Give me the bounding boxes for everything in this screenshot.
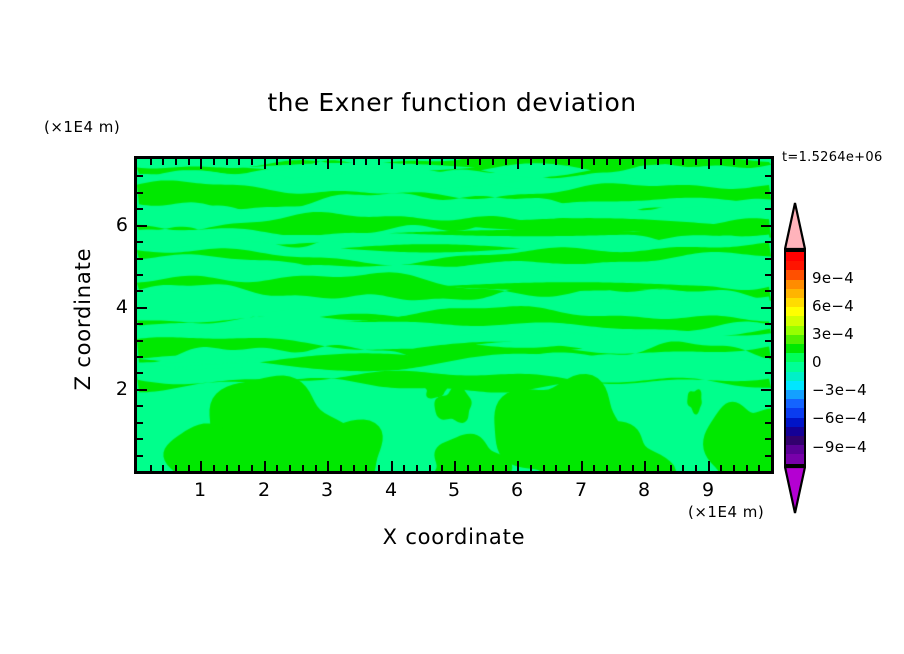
colorbar-band — [786, 418, 804, 427]
x-minor-tick-top — [606, 159, 608, 165]
x-minor-tick — [175, 465, 177, 471]
x-minor-tick — [416, 465, 418, 471]
colorbar-band — [786, 362, 804, 371]
colorbar-tick-label: 3e−4 — [812, 325, 854, 343]
y-minor-tick — [137, 438, 143, 440]
x-minor-tick — [403, 465, 405, 471]
colorbar-band — [786, 344, 804, 353]
y-major-tick-right — [761, 225, 771, 227]
y-minor-tick-right — [765, 422, 771, 424]
y-minor-tick — [137, 192, 143, 194]
colorbar-band — [786, 261, 804, 270]
x-minor-tick — [353, 465, 355, 471]
x-major-tick-top — [517, 159, 519, 169]
y-minor-tick-right — [765, 438, 771, 440]
x-minor-tick — [758, 465, 760, 471]
x-tick-label: 4 — [385, 479, 397, 501]
y-tick-label: 2 — [108, 378, 128, 400]
y-minor-tick — [137, 175, 143, 177]
colorbar-band — [786, 381, 804, 390]
colorbar-band — [786, 335, 804, 344]
y-major-tick — [137, 389, 147, 391]
x-minor-tick — [682, 465, 684, 471]
y-minor-tick-right — [765, 356, 771, 358]
x-minor-tick — [632, 465, 634, 471]
x-minor-tick-top — [505, 159, 507, 165]
x-minor-tick-top — [593, 159, 595, 165]
y-axis-title: Z coordinate — [71, 219, 95, 419]
x-minor-tick-top — [479, 159, 481, 165]
x-minor-tick — [720, 465, 722, 471]
x-minor-tick — [733, 465, 735, 471]
x-minor-tick — [276, 465, 278, 471]
x-minor-tick — [441, 465, 443, 471]
x-major-tick-top — [200, 159, 202, 169]
page-title: the Exner function deviation — [0, 88, 904, 117]
x-minor-tick-top — [467, 159, 469, 165]
colorbar-band — [786, 353, 804, 362]
x-minor-tick-top — [289, 159, 291, 165]
x-minor-tick — [530, 465, 532, 471]
y-minor-tick-right — [765, 323, 771, 325]
colorbar-band — [786, 454, 804, 463]
x-major-tick-top — [454, 159, 456, 169]
y-tick-label: 4 — [108, 296, 128, 318]
colorbar-tick-label: 6e−4 — [812, 297, 854, 315]
x-minor-tick — [555, 465, 557, 471]
x-minor-tick — [365, 465, 367, 471]
x-minor-tick-top — [213, 159, 215, 165]
colorbar-bands — [784, 250, 806, 466]
colorbar-band — [786, 270, 804, 279]
figure-root: the Exner function deviation (×1E4 m) t=… — [0, 0, 904, 654]
colorbar-tick-label: 9e−4 — [812, 269, 854, 287]
colorbar[interactable]: 9e−46e−43e−40−3e−4−6e−4−9e−4 — [784, 202, 806, 514]
x-minor-tick — [429, 465, 431, 471]
y-minor-tick — [137, 208, 143, 210]
x-minor-tick — [238, 465, 240, 471]
x-major-tick-top — [327, 159, 329, 169]
x-minor-tick-top — [315, 159, 317, 165]
x-minor-tick-top — [720, 159, 722, 165]
x-major-tick — [264, 461, 266, 471]
x-tick-label: 7 — [575, 479, 587, 501]
x-minor-tick — [593, 465, 595, 471]
x-minor-tick-top — [226, 159, 228, 165]
colorbar-tick-label: 0 — [812, 353, 822, 371]
x-minor-tick — [188, 465, 190, 471]
y-minor-tick-right — [765, 192, 771, 194]
x-minor-tick — [746, 465, 748, 471]
y-minor-tick-right — [765, 175, 771, 177]
x-minor-tick-top — [403, 159, 405, 165]
x-minor-tick — [467, 465, 469, 471]
x-minor-tick-top — [162, 159, 164, 165]
x-major-tick — [581, 461, 583, 471]
x-minor-tick-top — [429, 159, 431, 165]
x-minor-tick — [340, 465, 342, 471]
x-minor-tick — [302, 465, 304, 471]
x-minor-tick — [492, 465, 494, 471]
x-minor-tick-top — [188, 159, 190, 165]
x-minor-tick — [543, 465, 545, 471]
y-minor-tick — [137, 405, 143, 407]
y-minor-tick-right — [765, 274, 771, 276]
x-minor-tick — [606, 465, 608, 471]
y-minor-tick — [137, 323, 143, 325]
x-minor-tick-top — [353, 159, 355, 165]
colorbar-band — [786, 427, 804, 436]
x-minor-tick — [505, 465, 507, 471]
colorbar-band — [786, 445, 804, 454]
x-minor-tick-top — [175, 159, 177, 165]
y-minor-tick — [137, 455, 143, 457]
x-minor-tick-top — [695, 159, 697, 165]
y-minor-tick — [137, 258, 143, 260]
x-major-tick-top — [264, 159, 266, 169]
x-tick-label: 1 — [194, 479, 206, 501]
x-major-tick-top — [708, 159, 710, 169]
x-minor-tick-top — [619, 159, 621, 165]
x-major-tick — [200, 461, 202, 471]
x-minor-tick-top — [276, 159, 278, 165]
x-minor-tick-top — [492, 159, 494, 165]
x-tick-label: 9 — [702, 479, 714, 501]
y-major-tick-right — [761, 389, 771, 391]
x-tick-label: 2 — [258, 479, 270, 501]
x-minor-tick — [150, 465, 152, 471]
x-major-tick-top — [391, 159, 393, 169]
x-minor-tick — [289, 465, 291, 471]
colorbar-tick-label: −3e−4 — [812, 381, 867, 399]
y-minor-tick — [137, 340, 143, 342]
x-major-tick — [517, 461, 519, 471]
y-minor-tick — [137, 290, 143, 292]
x-minor-tick-top — [441, 159, 443, 165]
x-minor-tick-top — [378, 159, 380, 165]
y-minor-tick — [137, 372, 143, 374]
y-minor-tick-right — [765, 405, 771, 407]
x-minor-tick-top — [365, 159, 367, 165]
x-minor-tick-top — [758, 159, 760, 165]
x-minor-tick — [479, 465, 481, 471]
x-minor-tick-top — [530, 159, 532, 165]
x-minor-tick — [226, 465, 228, 471]
x-minor-tick — [619, 465, 621, 471]
x-minor-tick — [657, 465, 659, 471]
colorbar-over-arrow-icon — [784, 202, 806, 250]
x-minor-tick — [670, 465, 672, 471]
x-minor-tick-top — [302, 159, 304, 165]
x-minor-tick — [378, 465, 380, 471]
x-minor-tick-top — [733, 159, 735, 165]
y-minor-tick — [137, 422, 143, 424]
y-axis-unit-label: (×1E4 m) — [44, 118, 120, 136]
y-major-tick-right — [761, 307, 771, 309]
x-tick-label: 5 — [448, 479, 460, 501]
x-minor-tick-top — [568, 159, 570, 165]
y-minor-tick-right — [765, 258, 771, 260]
x-minor-tick-top — [657, 159, 659, 165]
colorbar-band — [786, 298, 804, 307]
colorbar-band — [786, 280, 804, 289]
x-minor-tick-top — [555, 159, 557, 165]
y-minor-tick-right — [765, 208, 771, 210]
x-minor-tick — [568, 465, 570, 471]
y-minor-tick-right — [765, 290, 771, 292]
colorbar-band — [786, 408, 804, 417]
colorbar-band — [786, 390, 804, 399]
y-minor-tick-right — [765, 241, 771, 243]
x-major-tick — [327, 461, 329, 471]
x-minor-tick-top — [340, 159, 342, 165]
x-minor-tick — [251, 465, 253, 471]
colorbar-band — [786, 307, 804, 316]
x-minor-tick — [213, 465, 215, 471]
time-annotation: t=1.5264e+06 — [782, 150, 883, 165]
x-minor-tick — [162, 465, 164, 471]
contour-field — [137, 159, 771, 471]
y-minor-tick — [137, 356, 143, 358]
x-minor-tick-top — [416, 159, 418, 165]
colorbar-band — [786, 399, 804, 408]
x-major-tick-top — [581, 159, 583, 169]
y-tick-label: 6 — [108, 214, 128, 236]
x-major-tick — [391, 461, 393, 471]
x-major-tick-top — [644, 159, 646, 169]
colorbar-band — [786, 372, 804, 381]
y-minor-tick-right — [765, 372, 771, 374]
colorbar-under-arrow-icon — [784, 466, 806, 514]
x-minor-tick-top — [251, 159, 253, 165]
colorbar-band — [786, 289, 804, 298]
y-minor-tick — [137, 241, 143, 243]
x-tick-label: 3 — [321, 479, 333, 501]
x-minor-tick-top — [746, 159, 748, 165]
colorbar-tick-label: −9e−4 — [812, 438, 867, 456]
x-minor-tick-top — [150, 159, 152, 165]
y-major-tick — [137, 307, 147, 309]
x-major-tick — [454, 461, 456, 471]
x-tick-label: 6 — [511, 479, 523, 501]
x-minor-tick-top — [543, 159, 545, 165]
x-minor-tick-top — [682, 159, 684, 165]
colorbar-band — [786, 436, 804, 445]
y-major-tick — [137, 225, 147, 227]
x-axis-unit-label: (×1E4 m) — [688, 503, 764, 521]
x-minor-tick-top — [632, 159, 634, 165]
colorbar-band — [786, 252, 804, 261]
y-minor-tick-right — [765, 340, 771, 342]
x-tick-label: 8 — [638, 479, 650, 501]
x-minor-tick-top — [670, 159, 672, 165]
colorbar-band — [786, 326, 804, 335]
contour-plot-area[interactable] — [134, 156, 774, 474]
x-axis-title: X coordinate — [134, 525, 774, 549]
x-minor-tick-top — [238, 159, 240, 165]
x-minor-tick — [695, 465, 697, 471]
colorbar-band — [786, 316, 804, 325]
colorbar-tick-label: −6e−4 — [812, 409, 867, 427]
x-major-tick — [644, 461, 646, 471]
x-major-tick — [708, 461, 710, 471]
x-minor-tick — [315, 465, 317, 471]
y-minor-tick-right — [765, 455, 771, 457]
y-minor-tick — [137, 274, 143, 276]
